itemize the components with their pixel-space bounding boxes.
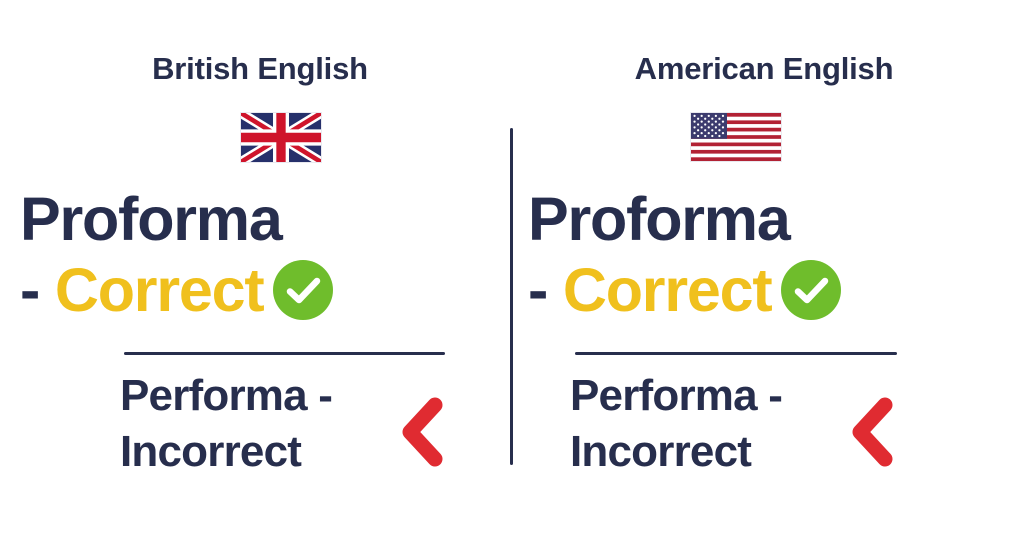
comparison-graphic: British English Proforma - Correct [0, 0, 1024, 559]
american-dash: - [528, 256, 547, 324]
american-separator-line [575, 352, 897, 355]
british-english-heading: British English [48, 52, 472, 86]
uk-flag-icon [240, 112, 322, 163]
american-correct-block: Proforma - Correct [528, 190, 1008, 321]
american-correct-label-group: - Correct [528, 260, 771, 321]
american-correct-label: Correct [563, 256, 772, 324]
red-chevron-left-icon [841, 393, 897, 471]
green-check-circle-icon [273, 260, 333, 320]
american-english-heading: American English [534, 52, 994, 86]
american-english-column: American English [528, 0, 1008, 559]
british-english-column: British English Proforma - Correct [20, 0, 500, 559]
american-incorrect-text: Performa - Incorrect [570, 368, 825, 481]
us-flag-icon [690, 112, 782, 162]
british-separator-line [124, 352, 445, 355]
british-incorrect-block: Performa - Incorrect [120, 368, 447, 481]
american-correct-word: Proforma [528, 190, 1008, 250]
red-chevron-left-icon [391, 393, 447, 471]
british-correct-row: - Correct [20, 260, 500, 321]
british-correct-word: Proforma [20, 190, 500, 250]
british-correct-block: Proforma - Correct [20, 190, 500, 321]
green-check-circle-icon [781, 260, 841, 320]
british-incorrect-text: Performa - Incorrect [120, 368, 375, 481]
american-incorrect-block: Performa - Incorrect [570, 368, 897, 481]
british-correct-label-group: - Correct [20, 260, 263, 321]
column-divider [510, 128, 513, 465]
american-correct-row: - Correct [528, 260, 1008, 321]
british-dash: - [20, 256, 39, 324]
british-correct-label: Correct [55, 256, 264, 324]
